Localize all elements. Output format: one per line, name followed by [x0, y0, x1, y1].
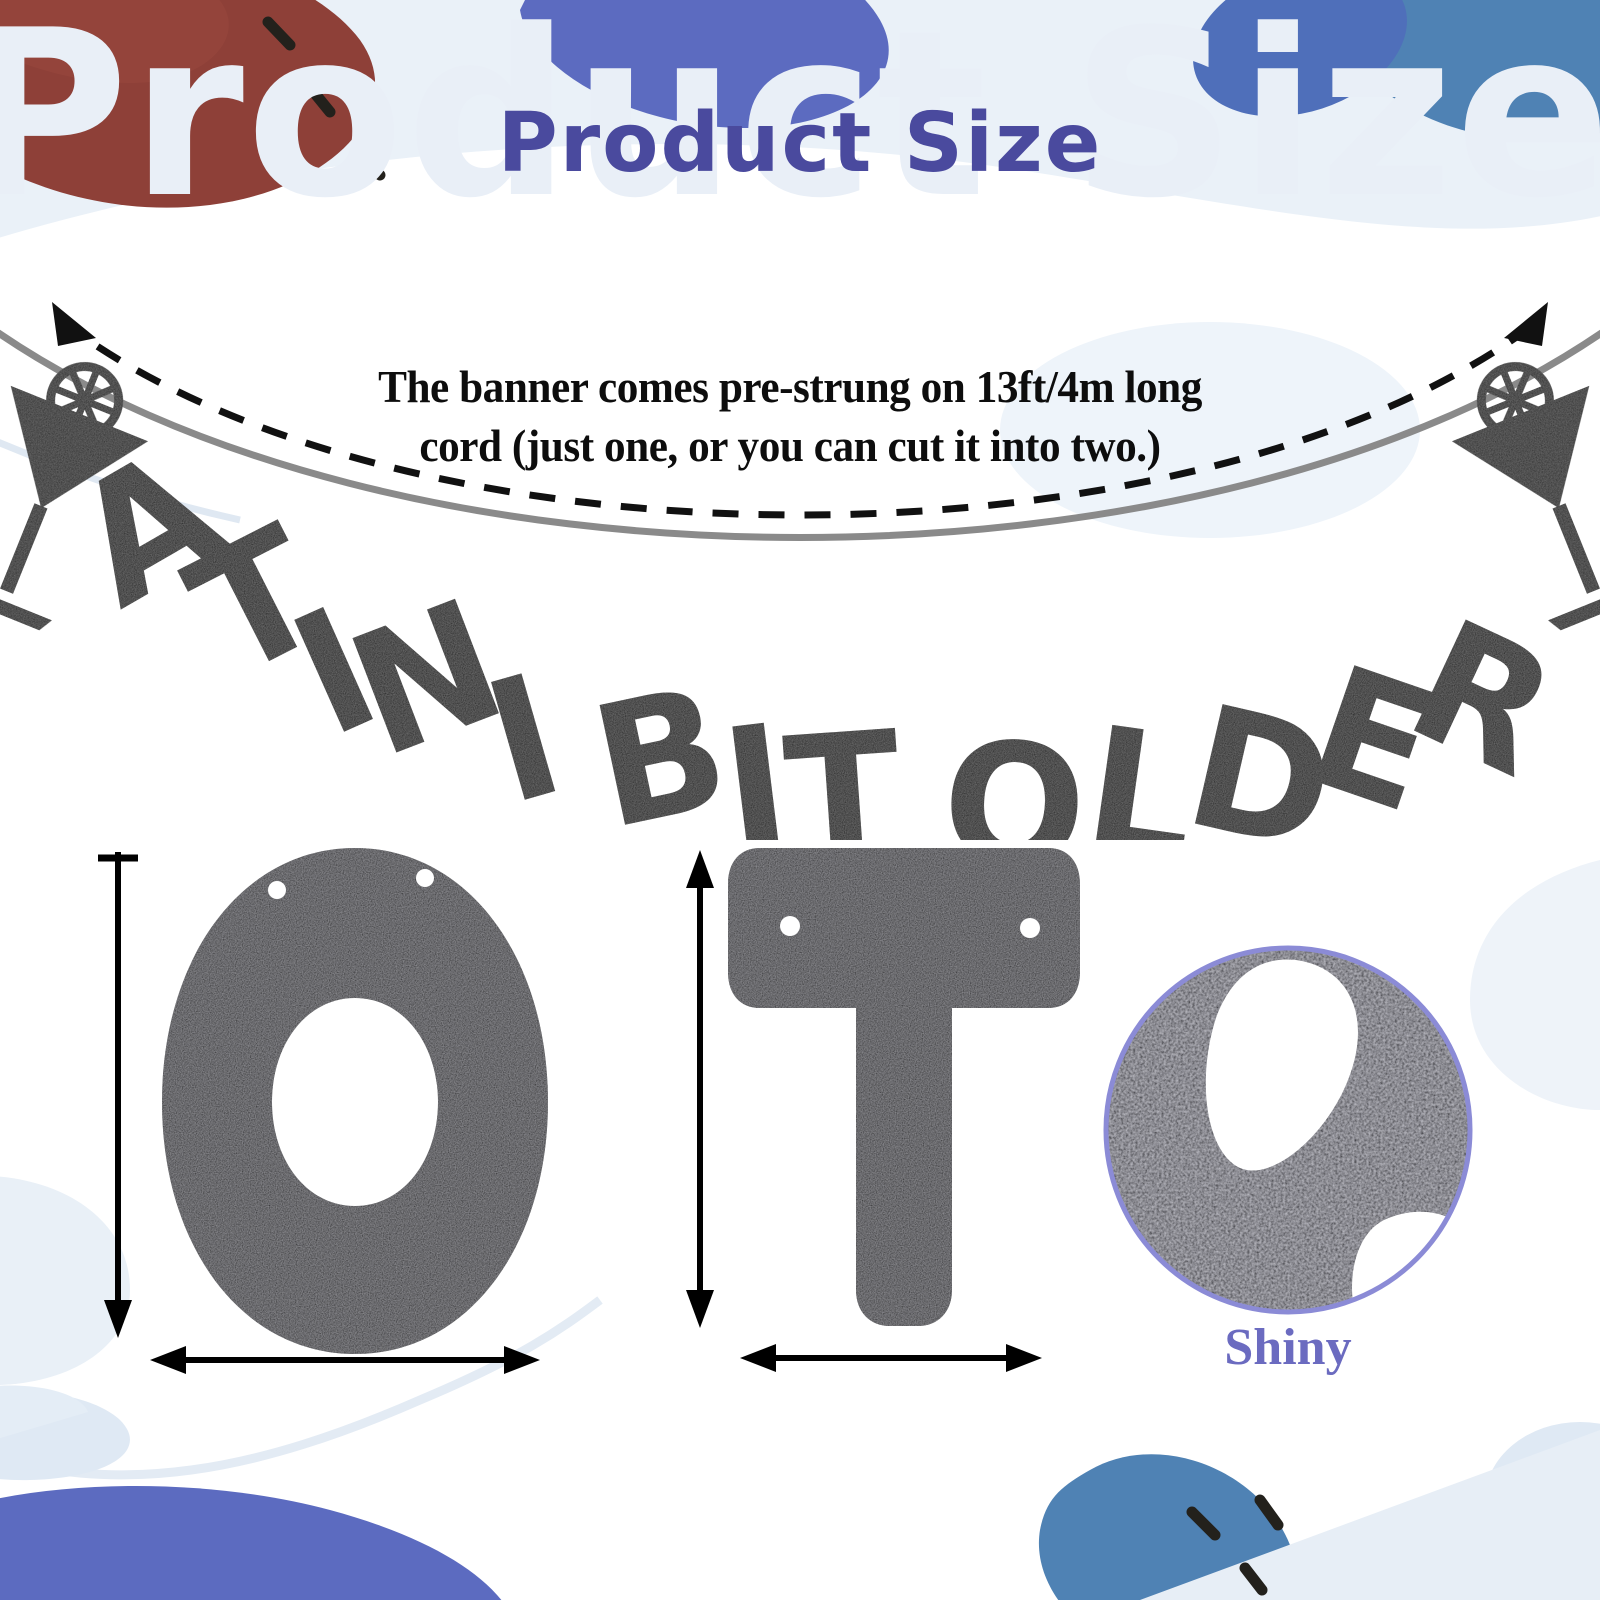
letter-o-hole-left: [268, 881, 286, 899]
shiny-cutout-small: [1450, 970, 1476, 1010]
letter-t-height-arrow-bottom: [686, 1290, 714, 1328]
dashed-arrow-left: [52, 302, 96, 346]
banner-note-line-2: cord (just one, or you can cut it into t…: [301, 417, 1279, 476]
letter-t-hole-right: [1020, 918, 1040, 938]
letter-o-width-arrow-left: [150, 1346, 186, 1374]
letter-t-width-arrow-right: [1006, 1344, 1042, 1372]
letter-o-height-arrow: [104, 1300, 132, 1338]
product-size-infographic: Product Size Product Size The banner com…: [0, 0, 1600, 1600]
shiny-cutout-bottom: [1352, 1212, 1492, 1330]
banner-letter-o: O: [938, 704, 1091, 840]
letter-o-width-arrow-right: [504, 1346, 540, 1374]
periwinkle-blob-bottom-left: [0, 1486, 523, 1600]
letter-o-hole-right: [416, 869, 434, 887]
letter-t-width-arrow-left: [740, 1344, 776, 1372]
letter-t-height-arrow-top: [686, 850, 714, 888]
sample-letter-o-shape: [162, 848, 548, 1354]
letter-t-hole-left: [780, 916, 800, 936]
shiny-label: Shiny: [1128, 1318, 1448, 1377]
banner-letter-t2: T: [779, 694, 907, 840]
banner-note: The banner comes pre-strung on 13ft/4m l…: [301, 358, 1279, 476]
letter-o-height-dimension: [98, 852, 138, 1320]
banner-note-line-1: The banner comes pre-strung on 13ft/4m l…: [301, 358, 1279, 417]
shiny-detail-circle: [1106, 948, 1492, 1330]
page-title: Product Size: [0, 96, 1600, 191]
